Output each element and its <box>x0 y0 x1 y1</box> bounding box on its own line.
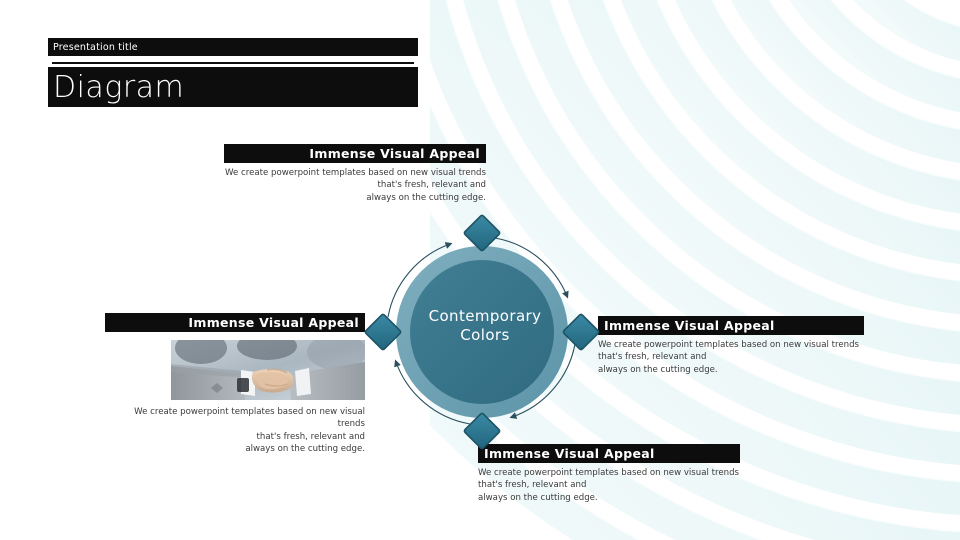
callout-top-heading-bar: Immense Visual Appeal <box>224 144 486 163</box>
slide-title-text: Diagram <box>48 70 184 105</box>
inner-disc <box>410 260 554 404</box>
callout-top-body: We create powerpoint templates based on … <box>224 167 486 204</box>
callout-left[interactable]: Immense Visual Appeal <box>105 313 365 456</box>
callout-left-body: We create powerpoint templates based on … <box>105 406 365 456</box>
central-diagram[interactable]: Contemporary Colors <box>360 212 610 452</box>
callout-right-heading: Immense Visual Appeal <box>604 318 775 333</box>
callout-bottom[interactable]: Immense Visual Appeal We create powerpoi… <box>478 444 740 504</box>
presentation-title-text: Presentation title <box>48 42 138 53</box>
callout-top-heading: Immense Visual Appeal <box>309 146 480 161</box>
slide-title-bar: Diagram <box>48 67 418 107</box>
callout-right-body: We create powerpoint templates based on … <box>598 339 864 376</box>
slide-canvas: Presentation title Diagram Immense Visua… <box>0 0 960 540</box>
presentation-title-bar: Presentation title <box>48 38 418 56</box>
callout-top[interactable]: Immense Visual Appeal We create powerpoi… <box>224 144 486 204</box>
handshake-illustration <box>171 340 365 400</box>
title-divider <box>52 62 414 64</box>
callout-bottom-body: We create powerpoint templates based on … <box>478 467 740 504</box>
diagram-graphic <box>360 212 610 452</box>
business-handshake-photo <box>171 340 365 400</box>
diamond-north[interactable] <box>464 215 501 252</box>
callout-left-heading-bar: Immense Visual Appeal <box>105 313 365 332</box>
diamond-south[interactable] <box>464 413 501 450</box>
callout-left-heading: Immense Visual Appeal <box>188 315 359 330</box>
callout-right-heading-bar: Immense Visual Appeal <box>598 316 864 335</box>
diamond-east[interactable] <box>563 314 600 351</box>
diamond-west[interactable] <box>365 314 402 351</box>
callout-right[interactable]: Immense Visual Appeal We create powerpoi… <box>598 316 864 376</box>
